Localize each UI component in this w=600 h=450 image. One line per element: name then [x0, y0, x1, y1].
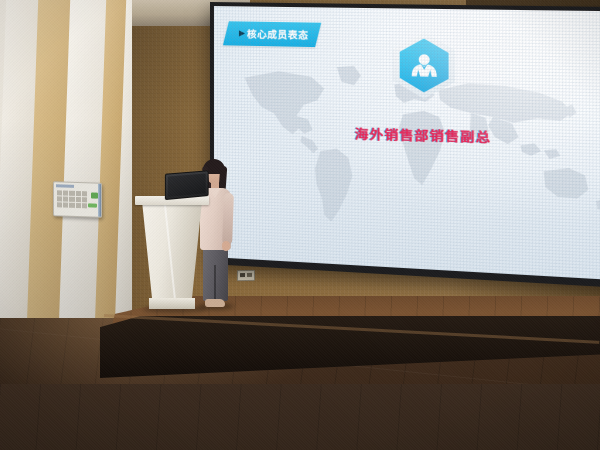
presenter-hand	[222, 241, 230, 251]
tab-arrow-icon: ▶	[239, 29, 245, 37]
left-wall	[0, 0, 132, 340]
control-panel-power-button[interactable]	[88, 203, 97, 207]
laptop-screen	[168, 173, 206, 196]
control-panel-keypad[interactable]	[57, 190, 87, 208]
lectern	[139, 196, 205, 310]
presenter-shoe	[205, 299, 225, 307]
projection-screen: ▶ 核心成员表态 海外销售部销售副总	[210, 2, 600, 288]
businessman-icon	[408, 51, 440, 83]
presenter-arm	[222, 193, 234, 245]
role-badge	[393, 32, 455, 100]
presenter-laptop[interactable]	[165, 172, 209, 198]
screen-surface: ▶ 核心成员表态 海外销售部销售副总	[214, 6, 600, 280]
foreground-floor	[0, 384, 600, 450]
presentation-photo-scene: ▶ 核心成员表态 海外销售部销售副总	[0, 0, 600, 450]
control-panel-status-led	[91, 192, 98, 198]
wall-control-panel[interactable]	[53, 181, 102, 218]
foreground-floor-planks	[0, 384, 600, 450]
laptop-lid	[165, 170, 209, 200]
slide-section-tab[interactable]: ▶ 核心成员表态	[223, 21, 321, 47]
presenter-trousers	[203, 247, 228, 301]
lectern-base	[149, 298, 195, 309]
control-panel-label	[56, 184, 74, 188]
wall-outlet[interactable]	[237, 270, 255, 281]
slide-section-tab-label: 核心成员表态	[247, 27, 309, 42]
control-panel-edge	[98, 184, 101, 217]
slide-headline: 海外销售部销售副总	[355, 123, 491, 146]
presenter-leg-gap	[214, 265, 216, 301]
